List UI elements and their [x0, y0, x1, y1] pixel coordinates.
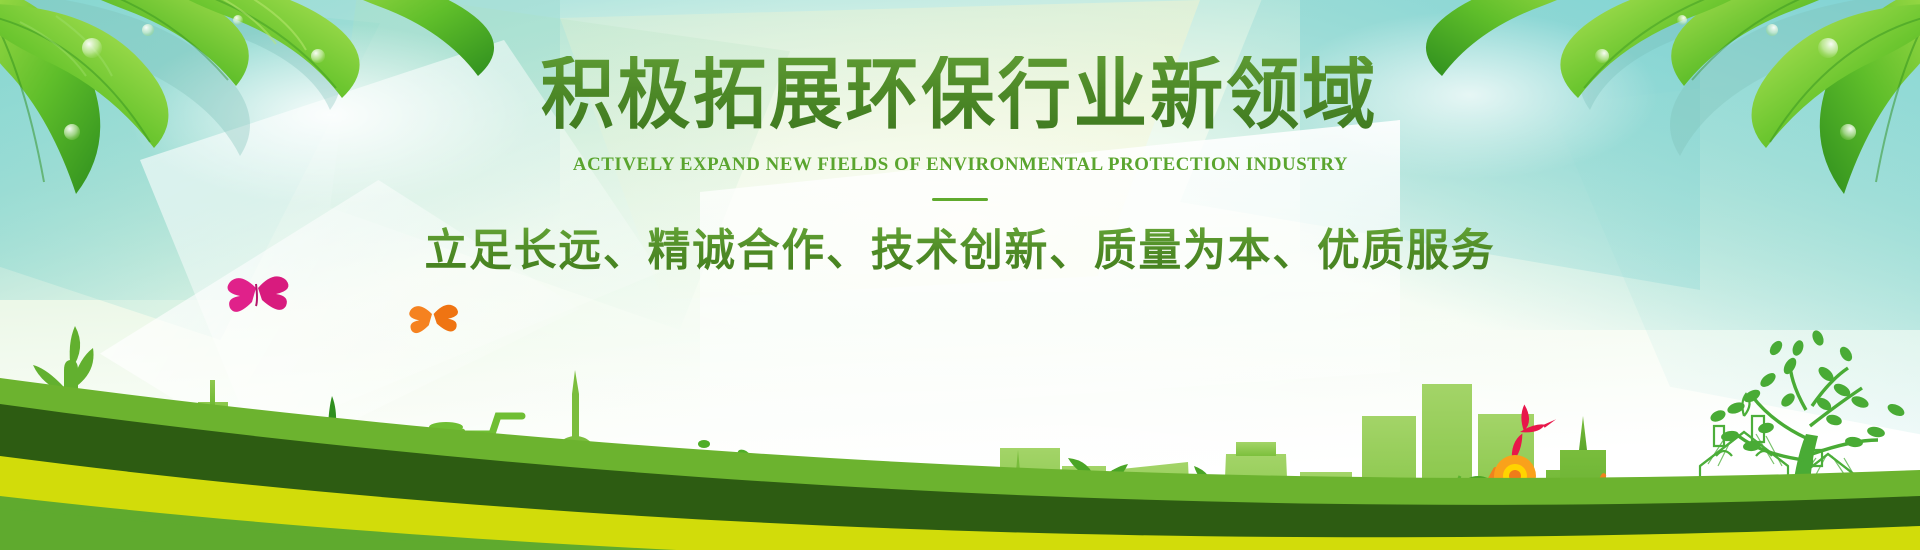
wave-bands	[0, 320, 1920, 550]
headline-divider	[932, 198, 988, 201]
banner-tagline: 立足长远、精诚合作、技术创新、质量为本、优质服务	[425, 227, 1496, 275]
banner-subheadline: ACTIVELY EXPAND NEW FIELDS OF ENVIRONMEN…	[572, 154, 1347, 176]
banner-headline: 积极拓展环保行业新领域	[541, 56, 1379, 134]
banner-copy: 积极拓展环保行业新领域 ACTIVELY EXPAND NEW FIELDS O…	[0, 0, 1920, 340]
environmental-banner: 积极拓展环保行业新领域 ACTIVELY EXPAND NEW FIELDS O…	[0, 0, 1920, 550]
